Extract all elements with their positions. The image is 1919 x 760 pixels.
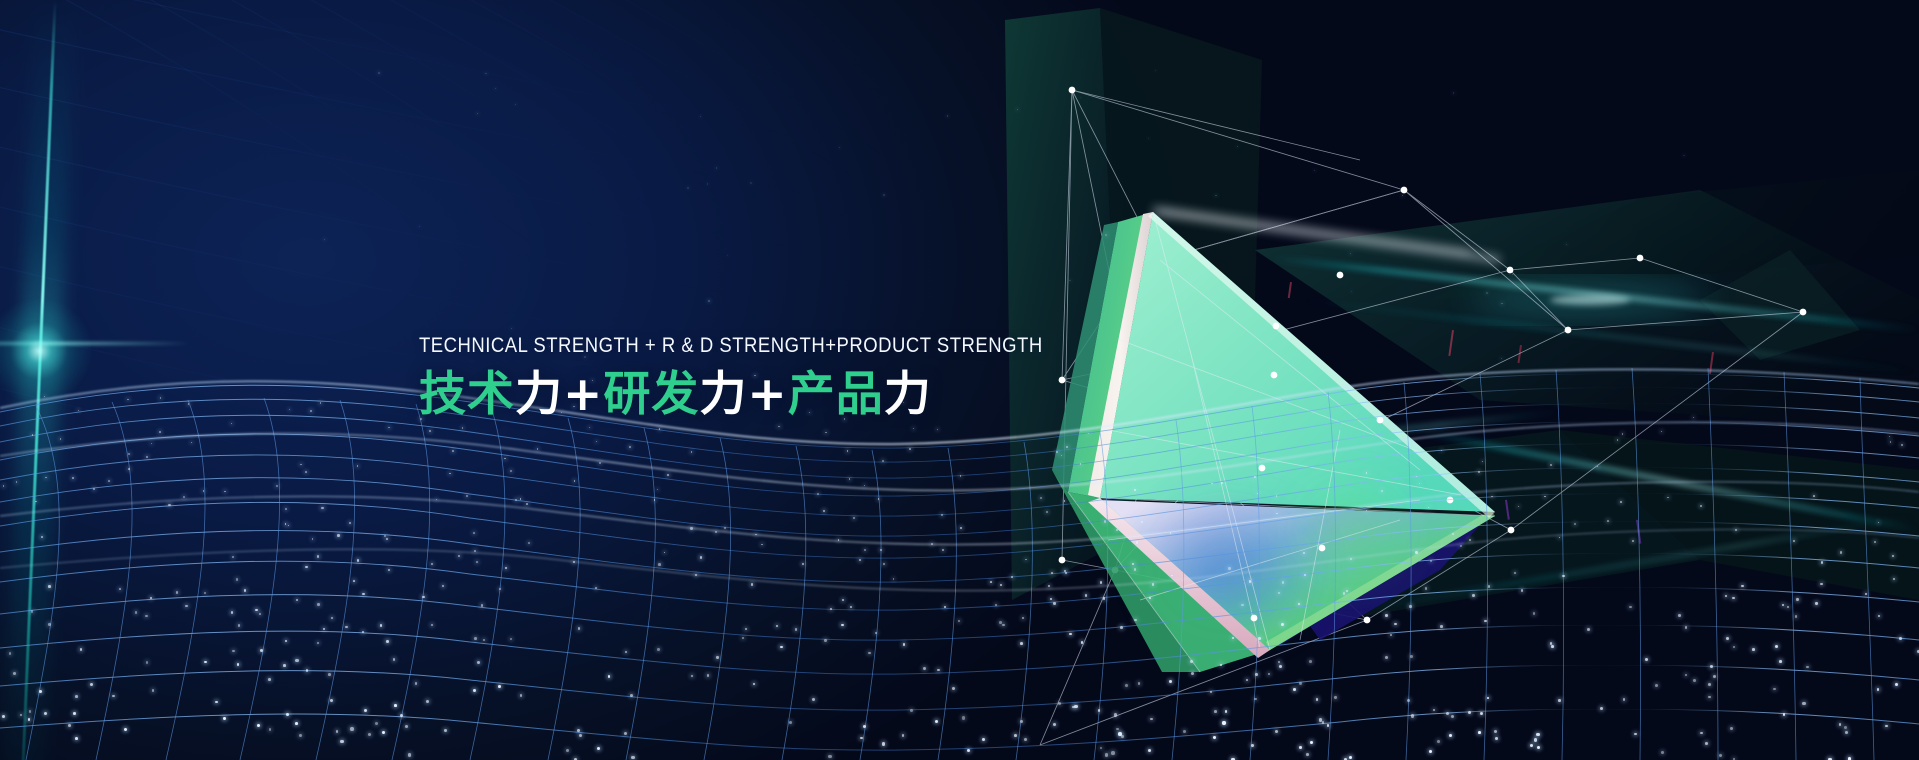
title-segment-3: 研发 [603,367,699,422]
title-segment-4: 力+ [699,367,787,422]
eyebrow-text: TECHNICAL STRENGTH + R & D STRENGTH+PROD… [419,335,952,357]
hero-banner: TECHNICAL STRENGTH + R & D STRENGTH+PROD… [0,0,1919,760]
headline-block: TECHNICAL STRENGTH + R & D STRENGTH+PROD… [419,335,1039,419]
title-segment-1: 技术 [419,367,515,422]
title-segment-2: 力+ [515,367,603,422]
page-title: 技术力+研发力+产品力 [419,370,1039,420]
title-segment-5: 产品 [788,367,884,422]
title-segment-6: 力 [884,367,932,422]
